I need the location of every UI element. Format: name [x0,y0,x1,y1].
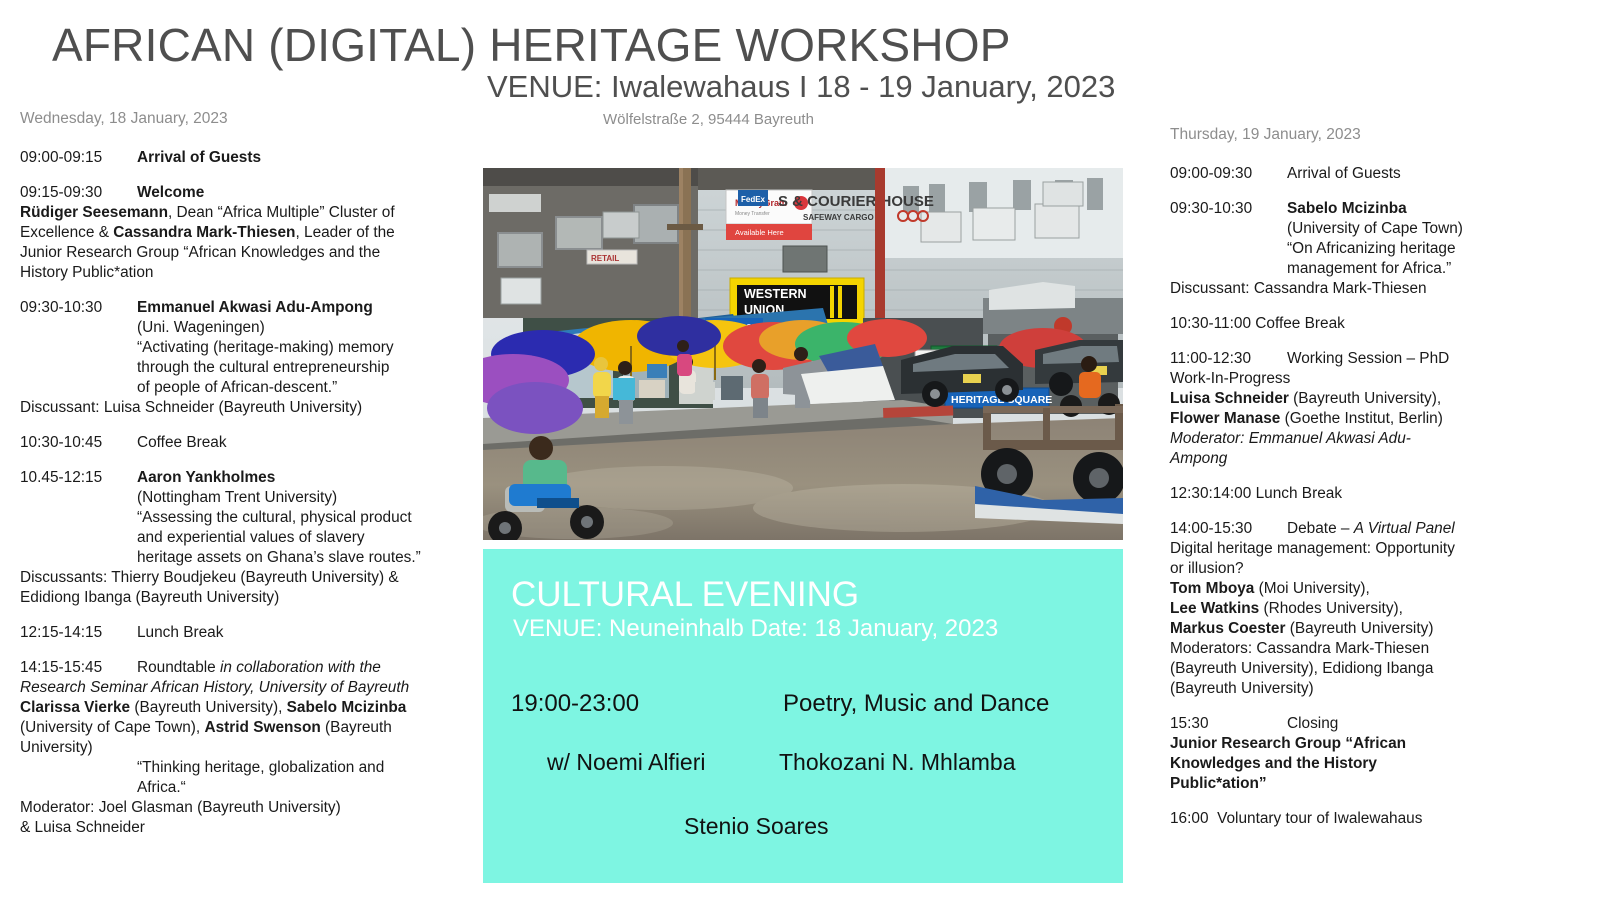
slot-title: Welcome [137,184,204,201]
cultural-evening-panel: CULTURAL EVENING VENUE: Neuneinhalb Date… [483,549,1123,883]
collaboration-note-cont: Research Seminar African History, Univer… [20,678,480,698]
moderators-line: Moderators: Cassandra Mark-Thiesen [1170,639,1590,659]
slot-title: Working Session – PhD [1287,350,1449,367]
svg-text:WESTERN: WESTERN [744,287,807,301]
discussant-line: Discussant: Cassandra Mark-Thiesen [1170,279,1590,299]
panelist-line: Luisa Schneider (Bayreuth University), [1170,389,1590,409]
closing-group-line: Junior Research Group “African [1170,734,1590,754]
panelist-line: Lee Watkins (Rhodes University), [1170,599,1590,619]
talk-title-line: “Assessing the cultural, physical produc… [20,508,480,528]
cultural-evening-venue: VENUE: Neuneinhalb Date: 18 January, 202… [513,615,998,643]
speaker-name: Aaron Yankholmes [137,469,275,486]
slot-time: 10:30-10:45 [20,433,137,453]
slot-title-italic: A Virtual Panel [1354,520,1455,537]
schedule-slot-welcome: 09:15-09:30Welcome Rüdiger Seesemann, De… [20,183,480,283]
schedule-slot-debate: 14:00-15:30Debate – A Virtual Panel Digi… [1170,519,1590,699]
svg-text:RETAIL: RETAIL [591,254,619,263]
slot-title-cont: Work-In-Progress [1170,369,1590,389]
schedule-slot-arrival: 09:00-09:15Arrival of Guests [20,148,480,168]
slot-title: Debate – [1287,520,1354,537]
moderator-line: Ampong [1170,449,1590,469]
cultural-evening-artist: Thokozani N. Mhlamba [779,749,1016,776]
talk-title-line: “Thinking heritage, globalization and [20,758,480,778]
moderator-line: & Luisa Schneider [20,818,480,838]
panelists-line-3: University) [20,738,480,758]
talk-title-line: and experiential values of slavery [20,528,480,548]
debate-topic-line: Digital heritage management: Opportunity [1170,539,1590,559]
slot-time: 09:00-09:15 [20,148,137,168]
talk-title-line: Africa.“ [20,778,480,798]
slot-title: Coffee Break [1255,315,1345,332]
discussants-line: Edidiong Ibanga (Bayreuth University) [20,588,480,608]
schedule-slot-lunch-break: 12:15-14:15Lunch Break [20,623,480,643]
cultural-evening-artist: Stenio Soares [684,813,828,840]
closing-group-line: Knowledges and the History [1170,754,1590,774]
slot-title: Lunch Break [137,624,223,641]
panelist-line: Tom Mboya (Moi University), [1170,579,1590,599]
closing-group-line: Public*ation” [1170,774,1590,794]
slot-title: Arrival of Guests [1287,165,1401,182]
moderator-line: Moderator: Joel Glasman (Bayreuth Univer… [20,798,480,818]
schedule-slot-roundtable: 14:15-15:45Roundtable in collaboration w… [20,658,480,838]
panelist-line: Markus Coester (Bayreuth University) [1170,619,1590,639]
schedule-slot-coffee-break: 10:30-11:00 Coffee Break [1170,314,1590,334]
panelist-line: Flower Manase (Goethe Institut, Berlin) [1170,409,1590,429]
welcome-line-1: Rüdiger Seesemann, Dean “Africa Multiple… [20,203,480,223]
slot-title: Arrival of Guests [137,149,261,166]
slot-time: 16:00 [1170,810,1209,827]
slot-time: 14:15-15:45 [20,658,137,678]
svg-text:Money Transfer: Money Transfer [735,211,770,217]
slot-title: Lunch Break [1256,485,1342,502]
day-one-date-label: Wednesday, 18 January, 2023 [20,110,480,128]
venue-line: VENUE: Iwalewahaus I 18 - 19 January, 20… [487,69,1115,105]
schedule-slot-mcizinba: 09:30-10:30Sabelo Mcizinba (University o… [1170,199,1590,299]
schedule-slot-coffee-break: 10:30-10:45Coffee Break [20,433,480,453]
speaker-name: Sabelo Mcizinba [1287,200,1407,217]
svg-text:SAFEWAY CARGO: SAFEWAY CARGO [803,213,874,222]
slot-time: 10:30-11:00 [1170,315,1251,332]
debate-topic-line: or illusion? [1170,559,1590,579]
schedule-slot-lunch-break: 12:30:14:00 Lunch Break [1170,484,1590,504]
svg-text:FedEx: FedEx [741,195,766,204]
slot-time: 10.45-12:15 [20,468,137,488]
discussant-line: Discussant: Luisa Schneider (Bayreuth Un… [20,398,480,418]
cultural-evening-title: CULTURAL EVENING [511,575,859,615]
moderators-line: (Bayreuth University) [1170,679,1590,699]
slot-time: 11:00-12:30 [1170,349,1287,369]
slot-title: Closing [1287,715,1338,732]
slot-time: 09:30-10:30 [20,298,137,318]
street-scene-photo: MoneyGram Money Transfer Available Here … [483,168,1123,540]
day-one-schedule: Wednesday, 18 January, 2023 09:00-09:15A… [20,110,480,853]
slot-time: 09:15-09:30 [20,183,137,203]
svg-text:Available Here: Available Here [735,228,784,237]
day-two-schedule: Thursday, 19 January, 2023 09:00-09:30Ar… [1170,126,1590,844]
talk-title-line: management for Africa.” [1170,259,1590,279]
venue-address: Wölfelstraße 2, 95444 Bayreuth [603,111,814,128]
collaboration-note: in collaboration with the [220,659,381,676]
slot-time: 15:30 [1170,714,1287,734]
talk-title-line: “On Africanizing heritage [1170,239,1590,259]
moderator-line: Moderator: Emmanuel Akwasi Adu- [1170,429,1590,449]
slot-title: Roundtable [137,659,216,676]
schedule-slot-closing: 15:30Closing Junior Research Group “Afri… [1170,714,1590,794]
speaker-affiliation: (Nottingham Trent University) [20,488,480,508]
day-two-date-label: Thursday, 19 January, 2023 [1170,126,1590,144]
street-scene-illustration: MoneyGram Money Transfer Available Here … [483,168,1123,540]
moderators-line: (Bayreuth University), Edidiong Ibanga [1170,659,1590,679]
slot-time: 09:00-09:30 [1170,164,1287,184]
talk-title-line: “Activating (heritage-making) memory [20,338,480,358]
cultural-evening-time: 19:00-23:00 [511,690,639,718]
slot-title: Voluntary tour of Iwalewahaus [1217,810,1422,827]
welcome-line-4: History Public*ation [20,263,480,283]
svg-text:S & COURIER HOUSE: S & COURIER HOUSE [778,193,934,210]
slot-time: 14:00-15:30 [1170,519,1287,539]
discussants-line: Discussants: Thierry Boudjekeu (Bayreuth… [20,568,480,588]
cultural-evening-artist: w/ Noemi Alfieri [547,749,705,776]
slot-title: Coffee Break [137,434,227,451]
talk-title-line: heritage assets on Ghana’s slave routes.… [20,548,480,568]
schedule-slot-yankholmes: 10.45-12:15Aaron Yankholmes (Nottingham … [20,468,480,608]
speaker-affiliation: (University of Cape Town) [1170,219,1590,239]
welcome-line-3: Junior Research Group “African Knowledge… [20,243,480,263]
schedule-slot-working-session: 11:00-12:30Working Session – PhD Work-In… [1170,349,1590,469]
page-title: AFRICAN (DIGITAL) HERITAGE WORKSHOP [52,18,1011,72]
schedule-slot-arrival: 09:00-09:30Arrival of Guests [1170,164,1590,184]
slot-time: 12:30:14:00 [1170,485,1251,502]
speaker-affiliation: (Uni. Wageningen) [20,318,480,338]
slot-time: 12:15-14:15 [20,623,137,643]
talk-title-line: of people of African-descent.” [20,378,480,398]
schedule-slot-tour: 16:00 Voluntary tour of Iwalewahaus [1170,809,1590,829]
slot-time: 09:30-10:30 [1170,199,1287,219]
schedule-slot-adu-ampong: 09:30-10:30Emmanuel Akwasi Adu-Ampong (U… [20,298,480,418]
welcome-line-2: Excellence & Cassandra Mark-Thiesen, Lea… [20,223,480,243]
speaker-name: Emmanuel Akwasi Adu-Ampong [137,299,373,316]
panelists-line-2: (University of Cape Town), Astrid Swenso… [20,718,480,738]
cultural-evening-activity: Poetry, Music and Dance [783,690,1049,718]
panelists-line-1: Clarissa Vierke (Bayreuth University), S… [20,698,480,718]
talk-title-line: through the cultural entrepreneurship [20,358,480,378]
